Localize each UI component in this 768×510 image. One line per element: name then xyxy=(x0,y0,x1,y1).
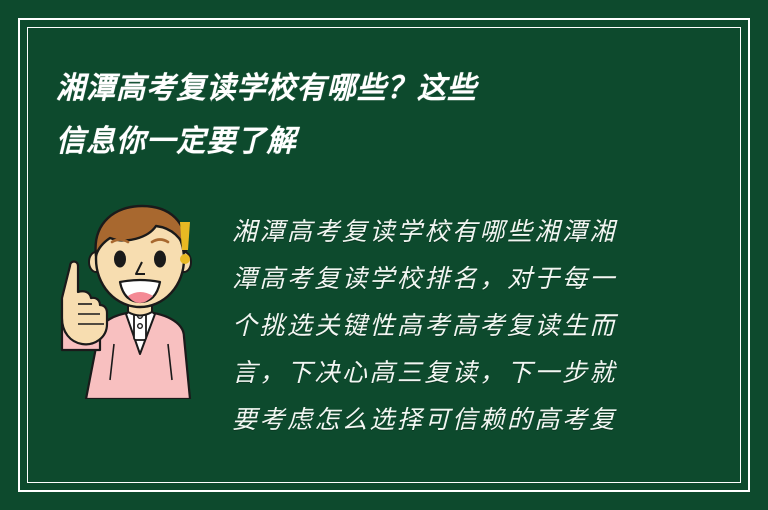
body-line-2: 潭高考复读学校排名，对于每一 xyxy=(232,255,644,302)
eye-right xyxy=(154,251,166,268)
exclamation-mark-icon xyxy=(180,222,190,264)
body-text: 湘潭高考复读学校有哪些湘潭湘 潭高考复读学校排名，对于每一 个挑选关键性高考高考… xyxy=(232,208,644,443)
page-title: 湘潭高考复读学校有哪些？这些 信息你一定要了解 xyxy=(56,62,656,168)
title-line-2: 信息你一定要了解 xyxy=(56,115,638,168)
eye-left xyxy=(114,251,126,268)
body-line-4: 言，下决心高三复读，下一步就 xyxy=(232,349,644,396)
body-line-1: 湘潭高考复读学校有哪些湘潭湘 xyxy=(232,208,644,255)
poster-canvas: 湘潭高考复读学校有哪些？这些 信息你一定要了解 xyxy=(0,0,768,510)
title-line-1: 湘潭高考复读学校有哪些？这些 xyxy=(56,62,638,115)
body-line-3: 个挑选关键性高考高考复读生而 xyxy=(232,302,644,349)
cartoon-person-illustration xyxy=(60,204,220,399)
body-line-5: 要考虑怎么选择可信赖的高考复 xyxy=(232,396,644,443)
